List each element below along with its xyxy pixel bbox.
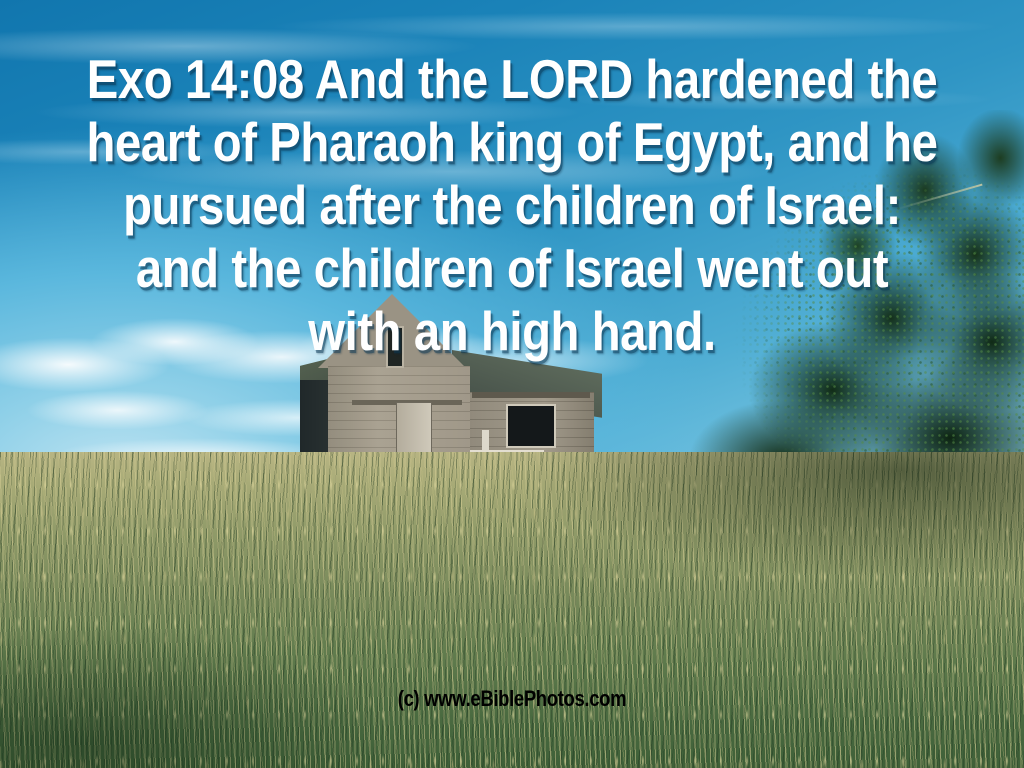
side-window bbox=[506, 404, 556, 448]
verse-line-1: Exo 14:08 And the LORD hardened the bbox=[72, 48, 953, 111]
verse-line-3: pursued after the children of Israel: bbox=[72, 174, 953, 237]
watermark: (c) www.eBiblePhotos.com bbox=[82, 686, 942, 712]
field-shadow bbox=[0, 452, 1024, 768]
scripture-photo: Exo 14:08 And the LORD hardened the hear… bbox=[0, 0, 1024, 768]
verse-line-2: heart of Pharaoh king of Egypt, and he bbox=[72, 111, 953, 174]
verse-overlay: Exo 14:08 And the LORD hardened the hear… bbox=[72, 48, 953, 363]
verse-line-4: and the children of Israel went out bbox=[72, 237, 953, 300]
eave-beam bbox=[472, 392, 590, 398]
verse-line-5: with an high hand. bbox=[72, 300, 953, 363]
